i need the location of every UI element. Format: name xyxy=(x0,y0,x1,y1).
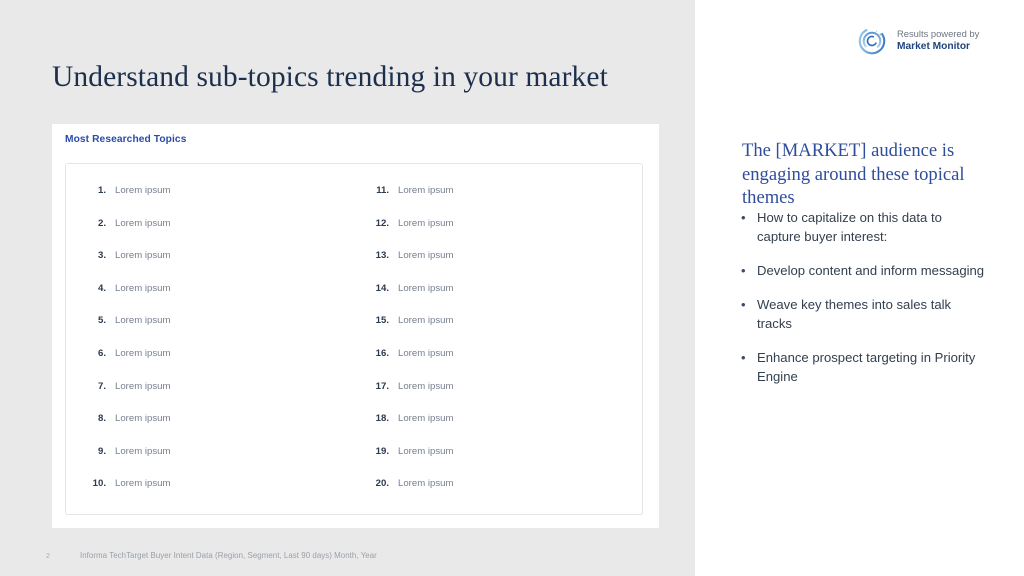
list-item-number: 18. xyxy=(363,413,398,425)
brand-lockup: Results powered by Market Monitor xyxy=(856,25,979,57)
page-number: 2 xyxy=(46,551,50,560)
list-item[interactable]: 12. Lorem ipsum xyxy=(363,218,633,251)
list-item[interactable]: 19. Lorem ipsum xyxy=(363,446,633,479)
right-panel-bullet-list: • How to capitalize on this data to capt… xyxy=(739,208,989,401)
list-item-number: 14. xyxy=(363,283,398,295)
list-item-label: Weave key themes into sales talk tracks xyxy=(757,295,989,333)
list-item[interactable]: 18. Lorem ipsum xyxy=(363,413,633,446)
slide-canvas: Understand sub-topics trending in your m… xyxy=(0,0,1024,576)
brand-text: Results powered by Market Monitor xyxy=(897,28,979,53)
list-item-label: Lorem ipsum xyxy=(115,218,170,230)
list-item: • Weave key themes into sales talk track… xyxy=(739,295,989,333)
list-item: • How to capitalize on this data to capt… xyxy=(739,208,989,246)
list-item[interactable]: 1. Lorem ipsum xyxy=(80,185,350,218)
list-item[interactable]: 14. Lorem ipsum xyxy=(363,283,633,316)
list-item-label: Lorem ipsum xyxy=(115,283,170,295)
list-item-label: Lorem ipsum xyxy=(115,315,170,327)
list-item-label: Lorem ipsum xyxy=(115,446,170,458)
list-item-number: 11. xyxy=(363,185,398,197)
topics-column-right: 11. Lorem ipsum 12. Lorem ipsum 13. Lore… xyxy=(363,185,633,511)
market-monitor-swirl-icon xyxy=(856,25,888,57)
list-item-number: 8. xyxy=(80,413,115,425)
right-panel-heading: The [MARKET] audience is engaging around… xyxy=(742,139,987,210)
list-item-number: 16. xyxy=(363,348,398,360)
list-item-label: Enhance prospect targeting in Priority E… xyxy=(757,348,989,386)
list-item-number: 12. xyxy=(363,218,398,230)
topics-list-box: 1. Lorem ipsum 2. Lorem ipsum 3. Lorem i… xyxy=(65,163,643,515)
list-item[interactable]: 15. Lorem ipsum xyxy=(363,315,633,348)
left-panel: Understand sub-topics trending in your m… xyxy=(0,0,695,576)
brand-name: Market Monitor xyxy=(897,40,979,53)
list-item[interactable]: 2. Lorem ipsum xyxy=(80,218,350,251)
list-item-number: 4. xyxy=(80,283,115,295)
list-item-label: Lorem ipsum xyxy=(398,250,453,262)
list-item-label: Lorem ipsum xyxy=(398,413,453,425)
list-item[interactable]: 10. Lorem ipsum xyxy=(80,478,350,511)
bullet-dot-icon: • xyxy=(739,295,757,314)
list-item-number: 13. xyxy=(363,250,398,262)
list-item[interactable]: 11. Lorem ipsum xyxy=(363,185,633,218)
list-item-label: Lorem ipsum xyxy=(398,218,453,230)
list-item-number: 9. xyxy=(80,446,115,458)
list-item-label: Develop content and inform messaging xyxy=(757,261,984,280)
list-item[interactable]: 7. Lorem ipsum xyxy=(80,381,350,414)
list-item-label: Lorem ipsum xyxy=(115,185,170,197)
list-item[interactable]: 17. Lorem ipsum xyxy=(363,381,633,414)
right-panel: Results powered by Market Monitor The [M… xyxy=(695,0,1024,576)
list-item-number: 19. xyxy=(363,446,398,458)
list-item-number: 7. xyxy=(80,381,115,393)
list-item-number: 20. xyxy=(363,478,398,490)
list-item-label: Lorem ipsum xyxy=(398,283,453,295)
list-item-label: Lorem ipsum xyxy=(398,185,453,197)
list-item-label: How to capitalize on this data to captur… xyxy=(757,208,989,246)
card-header-label: Most Researched Topics xyxy=(65,134,186,145)
list-item-label: Lorem ipsum xyxy=(115,250,170,262)
most-researched-topics-card: Most Researched Topics 1. Lorem ipsum 2.… xyxy=(52,124,659,528)
slide-footer: 2 Informa TechTarget Buyer Intent Data (… xyxy=(0,540,695,576)
list-item: • Develop content and inform messaging xyxy=(739,261,989,280)
list-item-label: Lorem ipsum xyxy=(398,348,453,360)
list-item-number: 10. xyxy=(80,478,115,490)
bullet-dot-icon: • xyxy=(739,208,757,227)
list-item[interactable]: 9. Lorem ipsum xyxy=(80,446,350,479)
list-item-number: 2. xyxy=(80,218,115,230)
list-item[interactable]: 6. Lorem ipsum xyxy=(80,348,350,381)
bullet-dot-icon: • xyxy=(739,261,757,280)
list-item-label: Lorem ipsum xyxy=(398,478,453,490)
page-title: Understand sub-topics trending in your m… xyxy=(52,60,632,94)
footer-source-note: Informa TechTarget Buyer Intent Data (Re… xyxy=(80,551,377,560)
topics-column-left: 1. Lorem ipsum 2. Lorem ipsum 3. Lorem i… xyxy=(80,185,350,511)
list-item-label: Lorem ipsum xyxy=(115,381,170,393)
list-item[interactable]: 4. Lorem ipsum xyxy=(80,283,350,316)
list-item[interactable]: 3. Lorem ipsum xyxy=(80,250,350,283)
list-item-label: Lorem ipsum xyxy=(115,348,170,360)
list-item-label: Lorem ipsum xyxy=(398,315,453,327)
list-item-number: 15. xyxy=(363,315,398,327)
list-item-number: 3. xyxy=(80,250,115,262)
list-item[interactable]: 20. Lorem ipsum xyxy=(363,478,633,511)
list-item-number: 5. xyxy=(80,315,115,327)
list-item-label: Lorem ipsum xyxy=(398,446,453,458)
list-item[interactable]: 13. Lorem ipsum xyxy=(363,250,633,283)
list-item[interactable]: 5. Lorem ipsum xyxy=(80,315,350,348)
brand-tagline: Results powered by xyxy=(897,28,979,40)
list-item-number: 6. xyxy=(80,348,115,360)
list-item[interactable]: 16. Lorem ipsum xyxy=(363,348,633,381)
list-item-label: Lorem ipsum xyxy=(115,413,170,425)
list-item-label: Lorem ipsum xyxy=(398,381,453,393)
list-item-number: 1. xyxy=(80,185,115,197)
list-item: • Enhance prospect targeting in Priority… xyxy=(739,348,989,386)
list-item[interactable]: 8. Lorem ipsum xyxy=(80,413,350,446)
list-item-number: 17. xyxy=(363,381,398,393)
bullet-dot-icon: • xyxy=(739,348,757,367)
list-item-label: Lorem ipsum xyxy=(115,478,170,490)
